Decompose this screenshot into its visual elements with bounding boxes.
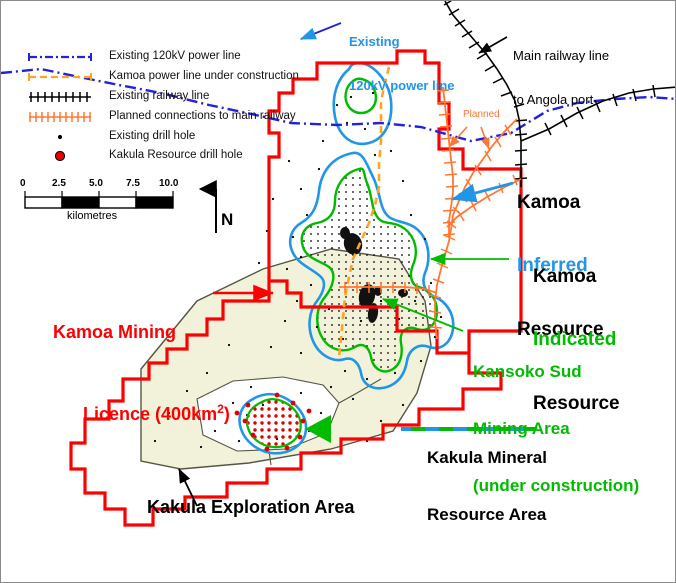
label-kamoa-mining-licence: Kamoa Mining Licence (400km2) [53, 282, 230, 485]
legend-label-power-construction: Kamoa power line under construction [109, 70, 299, 82]
legend-label-planned-railway: Planned connections to main railway [109, 110, 296, 122]
scale-tick-0: 0 [20, 178, 26, 189]
scale-bar [25, 191, 173, 208]
legend-label-existing-drill: Existing drill hole [109, 130, 195, 142]
leader-planned-left [449, 127, 467, 147]
leader-main-railway [479, 37, 507, 53]
leader-existing-power [301, 23, 341, 39]
leader-kamoa-inferred [453, 183, 513, 199]
legend-sym-kakula-drill [55, 151, 64, 160]
legend-sym-existing-drill [58, 135, 62, 139]
scale-tick-2: 5.0 [89, 178, 103, 189]
scale-tick-3: 7.5 [126, 178, 140, 189]
label-main-railway: Main railway line to Angola port [513, 20, 609, 136]
scale-tick-1: 2.5 [52, 178, 66, 189]
label-planned: Planned [463, 109, 500, 120]
label-kakula-mineral-resource: Kakula Mineral Resource Area (Inferred a… [427, 410, 644, 583]
label-kakula-exploration-area: Kakula Exploration Area [147, 497, 354, 517]
scale-units-label: kilometres [67, 210, 117, 222]
legend-label-railway: Existing railway line [109, 90, 209, 102]
scale-tick-4: 10.0 [159, 178, 178, 189]
licence-area-close: ) [224, 404, 230, 424]
licence-area-text: Licence (400km [83, 404, 217, 424]
legend-label-existing-power: Existing 120kV power line [109, 50, 241, 62]
north-label: N [221, 210, 233, 230]
label-existing-power-line: Existing 120kV power line [349, 6, 455, 122]
legend-label-kakula-drill: Kakula Resource drill hole [109, 149, 243, 161]
licence-area-superscript: 2 [217, 402, 224, 416]
map-figure: Existing 120kV power line Kamoa power li… [0, 0, 676, 583]
